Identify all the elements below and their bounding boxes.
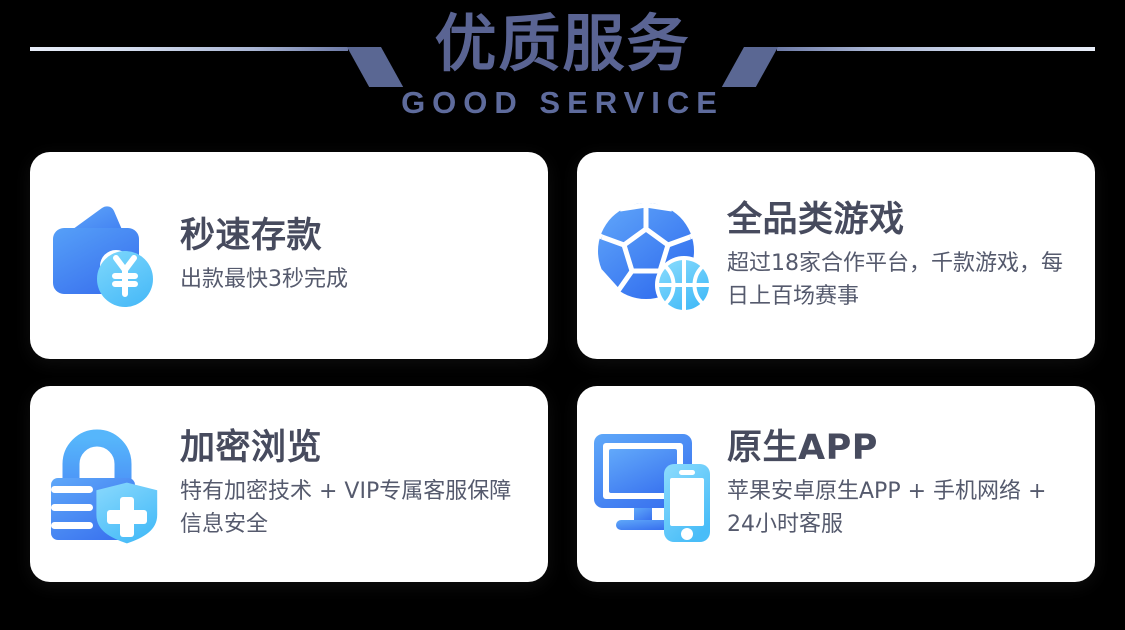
page-subtitle: GOOD SERVICE xyxy=(0,86,1125,120)
feature-card-grid: 秒速存款 出款最快3秒完成 xyxy=(30,152,1095,582)
feature-title: 加密浏览 xyxy=(180,427,530,469)
feature-card-games[interactable]: 全品类游戏 超过18家合作平台，千款游戏，每日上百场赛事 xyxy=(577,152,1095,359)
feature-subtitle: 苹果安卓原生APP + 手机网络 + 24小时客服 xyxy=(727,475,1067,541)
header-title-block: 优质服务 GOOD SERVICE xyxy=(0,8,1125,120)
wallet-yen-icon xyxy=(30,196,180,316)
monitor-phone-icon xyxy=(577,424,727,544)
feature-subtitle: 超过18家合作平台，千款游戏，每日上百场赛事 xyxy=(727,247,1067,313)
feature-subtitle: 特有加密技术 + VIP专属客服保障信息安全 xyxy=(180,475,520,541)
soccer-basketball-icon xyxy=(577,193,727,318)
header: 优质服务 GOOD SERVICE xyxy=(0,0,1125,145)
feature-title: 原生APP xyxy=(727,427,1077,469)
padlock-shield-icon xyxy=(30,422,180,547)
feature-card-native-app[interactable]: 原生APP 苹果安卓原生APP + 手机网络 + 24小时客服 xyxy=(577,386,1095,582)
feature-card-text: 原生APP 苹果安卓原生APP + 手机网络 + 24小时客服 xyxy=(727,427,1095,541)
feature-subtitle: 出款最快3秒完成 xyxy=(180,263,510,296)
feature-card-text: 加密浏览 特有加密技术 + VIP专属客服保障信息安全 xyxy=(180,427,548,541)
promo-banner: 优质服务 GOOD SERVICE xyxy=(0,0,1125,630)
feature-card-encryption[interactable]: 加密浏览 特有加密技术 + VIP专属客服保障信息安全 xyxy=(30,386,548,582)
feature-card-deposit[interactable]: 秒速存款 出款最快3秒完成 xyxy=(30,152,548,359)
feature-card-text: 秒速存款 出款最快3秒完成 xyxy=(180,215,548,296)
page-title: 优质服务 xyxy=(0,8,1125,80)
feature-card-text: 全品类游戏 超过18家合作平台，千款游戏，每日上百场赛事 xyxy=(727,199,1095,313)
feature-title: 全品类游戏 xyxy=(727,199,1077,241)
feature-title: 秒速存款 xyxy=(180,215,530,257)
